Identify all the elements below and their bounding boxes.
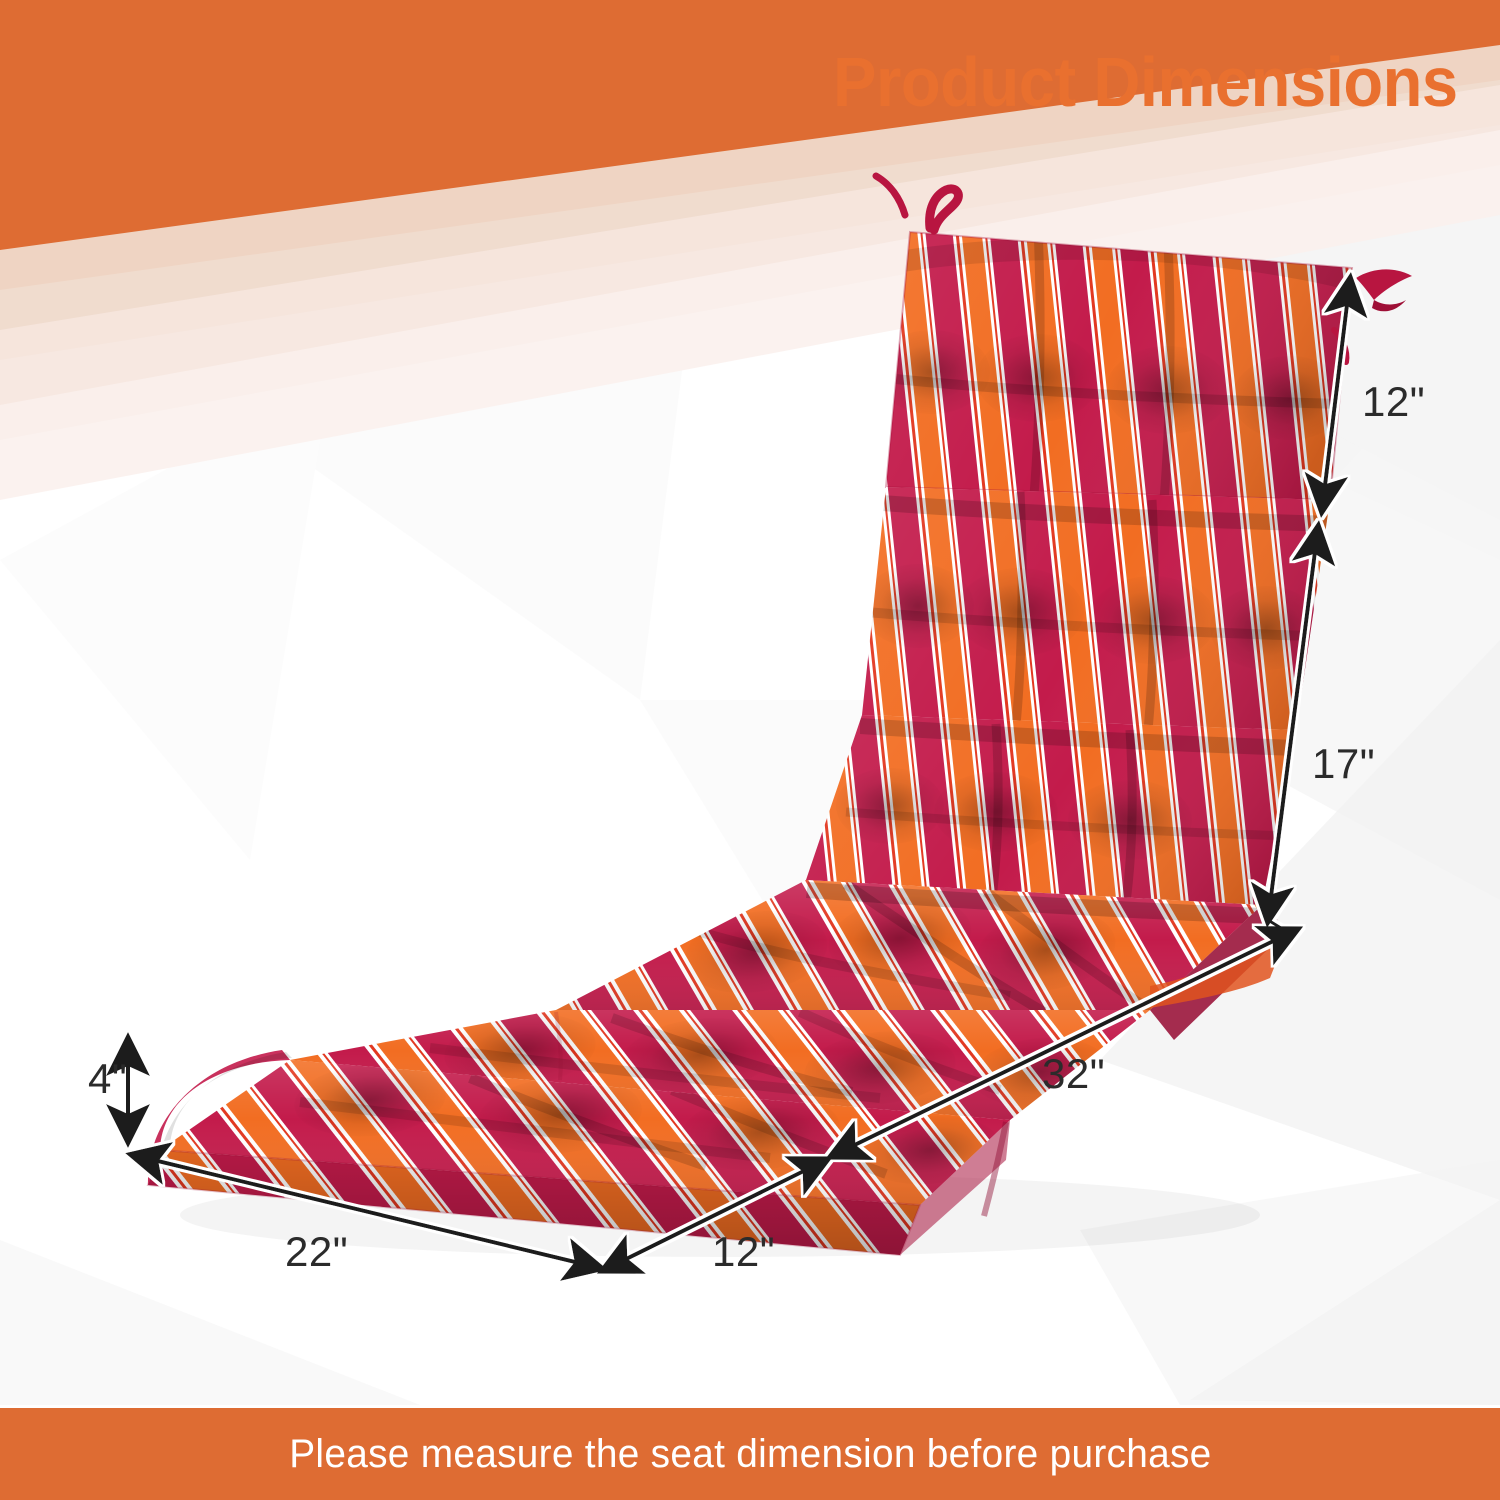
footer-note: Please measure the seat dimension before… [289,1432,1211,1477]
dimension-label-backrest-height: 12" [1362,378,1425,426]
dimension-label-cushion-width: 22" [285,1228,348,1276]
arrow-22in-width [133,1155,600,1268]
arrow-17in-seatback [1268,528,1318,920]
dimension-label-body-section-length: 32" [1042,1050,1105,1098]
footer-banner: Please measure the seat dimension before… [0,1408,1500,1500]
dimension-label-foot-section-length: 12" [712,1228,775,1276]
dimension-label-seat-back-height: 17" [1312,740,1375,788]
infographic-canvas: Product Dimensions [0,0,1500,1500]
arrow-32in-bodylength [832,930,1296,1156]
arrow-12in-backrest [1322,280,1350,510]
dimension-label-cushion-thickness: 4" [88,1055,127,1103]
